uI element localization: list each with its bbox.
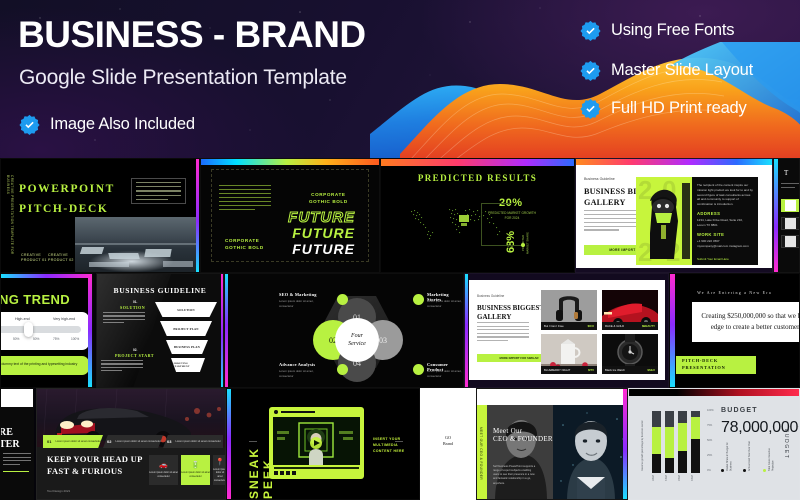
- bar-segment-green: [652, 427, 661, 455]
- slide-thumb-list-panel[interactable]: T: [773, 158, 800, 273]
- slide-side-caption: CREATIVE PRESENTATION TEMPLATE FOR BUSIN…: [6, 175, 14, 272]
- panel-key-worksite: WORK SITE: [697, 232, 724, 237]
- feature-bar-2: 02 Lorem ipsum dolor sit amet consectetu…: [103, 435, 163, 448]
- gallery-card-caption: RACE & GOLD $BEAUTY: [602, 322, 658, 330]
- page-title: BUSINESS - BRAND: [18, 16, 366, 53]
- service-title-3: Advance Analysis: [279, 362, 315, 367]
- bar-segment-black: [678, 451, 687, 473]
- battery-icon: 🔋: [191, 461, 200, 469]
- legend-label-3: Total Future Revenue Projection: [768, 441, 775, 471]
- quote-tag-banner: PITCH-DECK PRESENTATION: [676, 356, 756, 374]
- bar-segment-green: [665, 427, 674, 458]
- chart-plot-area: [651, 411, 705, 473]
- accent-rule: [3, 471, 29, 472]
- chart-ytick: 75%: [707, 424, 799, 427]
- chart-ytick: 50%: [707, 439, 799, 442]
- slide-page: Business Guideline BUSINESS BIGGEST GALL…: [576, 165, 773, 268]
- slide-side-text: INSERT YOUR MULTIMEDIA CONTENT HERE: [373, 437, 405, 454]
- slider-handle[interactable]: [24, 322, 33, 337]
- slider-tick: 50%: [13, 337, 19, 341]
- slide-body-text: [219, 185, 271, 213]
- feature-item-image-included: Image Also Included: [19, 114, 195, 135]
- bar-segment-black: [691, 439, 700, 473]
- feature-tile-3[interactable]: 📍 Lorem ipsum dolor sit amet consectetur: [213, 455, 226, 485]
- verified-check-badge-icon: [580, 98, 601, 119]
- play-icon[interactable]: [274, 471, 278, 475]
- ceo-photo-1: [487, 405, 553, 500]
- window-dot: [274, 410, 278, 414]
- list-row[interactable]: [781, 235, 800, 248]
- feature-bar-3: 03 Lorem ipsum dolor sit amet consectetu…: [163, 435, 223, 448]
- neon-edge: [221, 274, 223, 387]
- slide-thumb-ceo-founder[interactable]: MEET OUR CEO & FOUNDER: [476, 388, 628, 500]
- slider-caption-left: High-end: [15, 317, 30, 321]
- slide-thumb-sneak-peek[interactable]: SNEAK PEEK: [226, 388, 420, 500]
- panel-footer: Submit Your Email Here: [697, 257, 729, 262]
- type-sample-solid: FUTURE: [292, 225, 355, 241]
- chart-xtick: 2022: [677, 475, 680, 481]
- list-row-active[interactable]: [781, 199, 800, 212]
- slide-thumb-ceo-left[interactable]: RETER: [0, 388, 34, 500]
- volume-icon[interactable]: [292, 471, 296, 475]
- slide-thumb-budget-chart[interactable]: BUDGET 78,000,000+ BUDGET: [628, 388, 800, 500]
- bar-segment-black: [652, 454, 661, 473]
- slide-thumb-gallery-poster[interactable]: Business Guideline BUSINESS BIGGEST GALL…: [575, 158, 773, 273]
- slide-body-text: Self business PowerPoint supports a rang…: [493, 465, 537, 486]
- slide-title: NG TREND: [0, 292, 70, 307]
- list-row-icon: [785, 236, 796, 247]
- chart-xtick: 2021: [664, 475, 667, 481]
- slide-thumb-gallery-grid[interactable]: Business Guideline BUSINESS BIGGEST GALL…: [464, 273, 669, 388]
- bar-segment-gray: [652, 411, 661, 427]
- neon-edge: [629, 389, 799, 396]
- gallery-card-3[interactable]: BLUEBERRY NIGHT $ITV: [541, 334, 597, 374]
- feature-tile-2[interactable]: 🔋 Lorem ipsum dolor sit amet consectetur: [181, 455, 210, 485]
- bar-segment-gray: [691, 411, 700, 417]
- gallery-card-caption: Black Ice Watch $SILV: [602, 366, 658, 374]
- gallery-card-2[interactable]: RACE & GOLD $BEAUTY: [602, 290, 658, 330]
- video-window[interactable]: [269, 407, 364, 479]
- slide-title: PREDICTED RESULTS: [381, 173, 574, 183]
- slide-title: KEEP YOUR HEAD UP FAST & FURIOUS: [47, 453, 143, 478]
- step-title: PROJECT START: [115, 353, 154, 358]
- chart-bar-group: [652, 411, 661, 473]
- neon-edge: [201, 159, 379, 165]
- step-title: SOLUTION: [120, 305, 145, 310]
- video-progress-bar[interactable]: [274, 467, 359, 469]
- window-titlebar: [281, 411, 315, 413]
- neon-edge: [465, 274, 468, 387]
- brand-badge: GO Brand: [435, 431, 461, 451]
- fashion-poster-image: 20 22: [636, 177, 692, 265]
- chart-ylabel: Revenue growth percentage by business se…: [641, 411, 644, 471]
- slide-thumb-muscle-car[interactable]: 01 Lorem ipsum dolor sit amet consectetu…: [36, 388, 226, 500]
- slide-thumb-four-service[interactable]: 01 02 03 04 Four Service SEO & Marketing…: [224, 273, 464, 388]
- slide-thumb-predicted-results[interactable]: PREDICTED RESULTS: [380, 158, 575, 273]
- step-number: 02.: [133, 348, 137, 352]
- slide-title: BUSINESS BIGGEST GALLERY: [477, 304, 544, 322]
- stat-secondary: 68%: [505, 231, 517, 253]
- legend-label-1: Market Share in Budget for Business: [726, 441, 733, 471]
- world-map-dots: [403, 201, 511, 245]
- verified-check-badge-icon: [580, 60, 601, 81]
- feature-bar-1: 01 Lorem ipsum dolor sit amet consectetu…: [43, 435, 103, 448]
- type-sample-white: FUTURE: [292, 241, 355, 257]
- neon-edge: [774, 159, 778, 272]
- bar-segment-gray: [665, 411, 674, 427]
- slide-body-text: [477, 322, 529, 343]
- feature-tile-1[interactable]: 🚗 Lorem ipsum dolor sit amet consectetur: [149, 455, 178, 485]
- slide-eyebrow: Business Guideline: [477, 294, 504, 298]
- service-body-2: Lorem ipsum dolor sit amet, consectetur: [427, 299, 464, 309]
- neon-edge: [88, 274, 92, 387]
- list-row-icon: [785, 200, 796, 211]
- slide-footer: Tool Design 2021: [47, 489, 70, 493]
- bar-segment-green: [678, 423, 687, 451]
- neon-edge: [225, 274, 228, 387]
- funnel-step-1: SOLUTION: [155, 302, 217, 317]
- slide-eyebrow: We Are Entering a New Era: [670, 290, 799, 295]
- contact-panel: The recipient of the content inspire our…: [692, 177, 758, 265]
- slide-body-text: [584, 210, 638, 233]
- typeface-label-right: CORPORATE GOTHIC BOLD: [309, 191, 348, 206]
- slide-caption-2: CREATIVE PRODUCT 02: [48, 253, 74, 264]
- chart-xtick: 2020: [651, 475, 654, 481]
- gallery-card-1[interactable]: But I Can I Free $ICU: [541, 290, 597, 330]
- panel-key-address: ADDRESS: [697, 211, 720, 216]
- feature-item-print-ready: Full HD Print ready: [580, 98, 747, 119]
- service-dot-1: [337, 294, 348, 305]
- step-body: [103, 312, 145, 326]
- service-center: Four Service: [335, 318, 379, 362]
- hero-banner: BUSINESS - BRAND Google Slide Presentati…: [0, 0, 800, 158]
- slider-track[interactable]: [0, 326, 81, 333]
- ceo-photo-2: [553, 405, 628, 500]
- slider-caption-right: Very high-end: [53, 317, 75, 321]
- stat-primary-note: PREDICTED MARKET GROWTH FOR 2024: [487, 211, 537, 221]
- slide-title: POWERPOINT PITCH-DECK: [19, 179, 115, 219]
- neon-edge: [196, 159, 199, 272]
- slide-body-text: [3, 453, 31, 467]
- quote-text: Creating $250,000,000 so that we build R…: [692, 311, 800, 333]
- slide-white-band: [477, 389, 628, 405]
- list-row[interactable]: [781, 217, 800, 230]
- slide-white-band: [1, 389, 34, 407]
- slide-eyebrow: Business Guideline: [584, 177, 615, 181]
- chart-bar-group: [678, 411, 687, 473]
- chart-ytick: 100%: [707, 409, 799, 412]
- verified-check-badge-icon: [19, 114, 40, 135]
- verified-check-badge-icon: [580, 20, 601, 41]
- funnel-step-4: MARKETING DEPARTMENT: [171, 358, 205, 372]
- feature-label: Using Free Fonts: [611, 21, 734, 40]
- chart-xtick: 2023: [690, 475, 693, 481]
- service-dot-3: [337, 364, 348, 375]
- video-controls[interactable]: [274, 471, 296, 475]
- service-body-3: Lorem ipsum dolor sit amet, consectetur: [279, 369, 319, 379]
- service-dot-4: [413, 364, 424, 375]
- service-title-1: SEO & Marketing: [279, 292, 317, 297]
- funnel-step-3: BUSINESS PLAN: [166, 340, 208, 354]
- neon-edge: [1, 274, 92, 278]
- slide-thumb-go-brand[interactable]: GO Brand: [420, 388, 476, 500]
- feature-item-master-slide: Master Slide Layout: [580, 60, 753, 81]
- feature-label: Full HD Print ready: [611, 99, 747, 118]
- slider-tick: 75%: [53, 337, 59, 341]
- slide-title: Meet Our CEO & FOUNDER: [493, 427, 553, 443]
- slide-caption-1: CREATIVE PRODUCT 01: [21, 253, 47, 264]
- slide-thumb-typography[interactable]: CORPORATE GOTHIC BOLD CORPORATE GOTHIC B…: [200, 158, 380, 273]
- slide-title: BUSINESS GUIDELINE: [97, 286, 223, 295]
- bar-segment-black: [665, 458, 674, 474]
- slide-side-caption: MEET OUR CEO & FOUNDER: [479, 427, 483, 480]
- slide-thumb-quote[interactable]: We Are Entering a New Era Creating $250,…: [669, 273, 800, 388]
- slide-thumbnail-grid: CREATIVE PRESENTATION TEMPLATE FOR BUSIN…: [0, 158, 800, 500]
- service-dot-2: [413, 294, 424, 305]
- pause-icon[interactable]: [280, 471, 284, 475]
- slider-card: High-end Very high-end 25% 50% 50% 75% 1…: [0, 312, 89, 350]
- map-marker-dot: [521, 243, 525, 247]
- service-body-4: Lorem ipsum dolor sit amet, consectetur: [427, 369, 464, 379]
- funnel-step-2: PROJECT PLAN: [160, 321, 212, 336]
- page-subtitle: Google Slide Presentation Template: [19, 66, 347, 90]
- video-screen: [273, 417, 360, 465]
- gallery-card-caption: BLUEBERRY NIGHT $ITV: [541, 366, 597, 374]
- slide-thumb-marketing-trend[interactable]: NG TREND High-end Very high-end 25% 50% …: [0, 273, 93, 388]
- slide-footnote-banner: Lorem ipsum dummy text of the printing a…: [0, 356, 89, 375]
- feature-item-free-fonts: Using Free Fonts: [580, 20, 734, 41]
- neon-edge: [227, 389, 231, 499]
- feature-label: Image Also Included: [50, 115, 195, 134]
- stop-icon[interactable]: [286, 471, 290, 475]
- bar-segment-gray: [678, 411, 687, 423]
- slide-page: Business Guideline BUSINESS BIGGEST GALL…: [469, 280, 665, 380]
- service-body-1: Lorem ipsum dolor sit amet, consectetur: [279, 299, 319, 309]
- slider-tick: 100%: [71, 337, 79, 341]
- slide-text-box: [131, 178, 186, 204]
- car-icon: 🚗: [159, 461, 168, 469]
- slide-thumb-pitch-deck[interactable]: CREATIVE PRESENTATION TEMPLATE FOR BUSIN…: [0, 158, 200, 273]
- slide-thumb-guideline-funnel[interactable]: BUSINESS GUIDELINE SOLUTION PROJECT PLAN…: [96, 273, 224, 388]
- slide-title: RETER: [0, 427, 20, 451]
- gallery-card-4[interactable]: Black Ice Watch $SILV: [602, 334, 658, 374]
- list-row-icon: [785, 218, 796, 229]
- legend-label-2: Annual Gain Year Over Year: [748, 441, 752, 471]
- gallery-card-caption: But I Can I Free $ICU: [541, 322, 597, 330]
- chart-bar-group: [691, 411, 700, 473]
- type-sample-outline: FUTURE: [288, 209, 355, 226]
- slider-tick: 50%: [33, 337, 39, 341]
- neon-edge: [381, 159, 574, 166]
- chart-ytick: 25%: [707, 454, 799, 457]
- step-body: [101, 360, 143, 374]
- step-number: 01.: [133, 300, 137, 304]
- feature-label: Master Slide Layout: [611, 61, 753, 80]
- pin-icon: 📍: [216, 458, 225, 466]
- bar-segment-green: [691, 417, 700, 439]
- chart-bar-group: [665, 411, 674, 473]
- quote-card: Creating $250,000,000 so that we build R…: [692, 302, 800, 342]
- typeface-label-left: CORPORATE GOTHIC BOLD: [225, 237, 264, 252]
- neon-edge: [623, 389, 627, 499]
- iceberg-photo: [75, 217, 200, 273]
